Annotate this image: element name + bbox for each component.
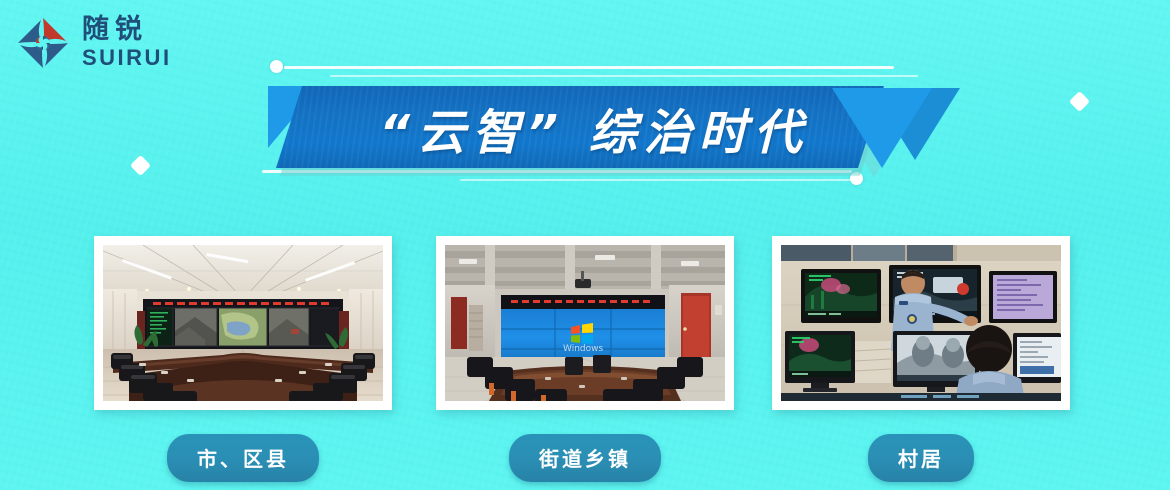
banner-rule-bottom [460,179,858,181]
village-monitoring-station-photo [781,245,1061,401]
card-label-row: 街道乡镇 [436,434,734,482]
city-district-command-center-photo [103,245,383,401]
township-meeting-room-photo: Windows [445,245,725,401]
card-label-city-district[interactable]: 市、区县 [167,434,319,482]
photo-frame [772,236,1070,410]
card-city-district[interactable]: 市、区县 [94,236,392,482]
card-label-row: 村居 [772,434,1070,482]
photo-frame [94,236,392,410]
dot-decoration-icon [270,60,283,73]
card-row: 市、区县 [0,236,1170,486]
page-title: “云智” 综治时代 [324,88,864,168]
brand-name-cn: 随锐 [82,16,172,43]
card-village[interactable]: 村居 [772,236,1070,482]
slide-canvas: 随锐 SUIRUI “云智” 综治时代 [0,0,1170,490]
banner-rule-top [284,66,894,69]
svg-text:Windows: Windows [563,344,603,354]
suirui-pinwheel-logo-icon [14,14,72,72]
card-label-row: 市、区县 [94,434,392,482]
brand-name-en: SUIRUI [82,47,172,69]
card-label-township[interactable]: 街道乡镇 [509,434,661,482]
title-banner: “云智” 综治时代 [262,58,952,193]
diamond-decoration-icon [1069,91,1090,112]
card-township[interactable]: Windows [436,236,734,482]
photo-frame: Windows [436,236,734,410]
brand-logo: 随锐 SUIRUI [14,14,172,72]
banner-rule-top [330,75,918,77]
diamond-decoration-icon [130,155,151,176]
brand-logo-text: 随锐 SUIRUI [82,16,172,71]
card-label-village[interactable]: 村居 [868,434,974,482]
